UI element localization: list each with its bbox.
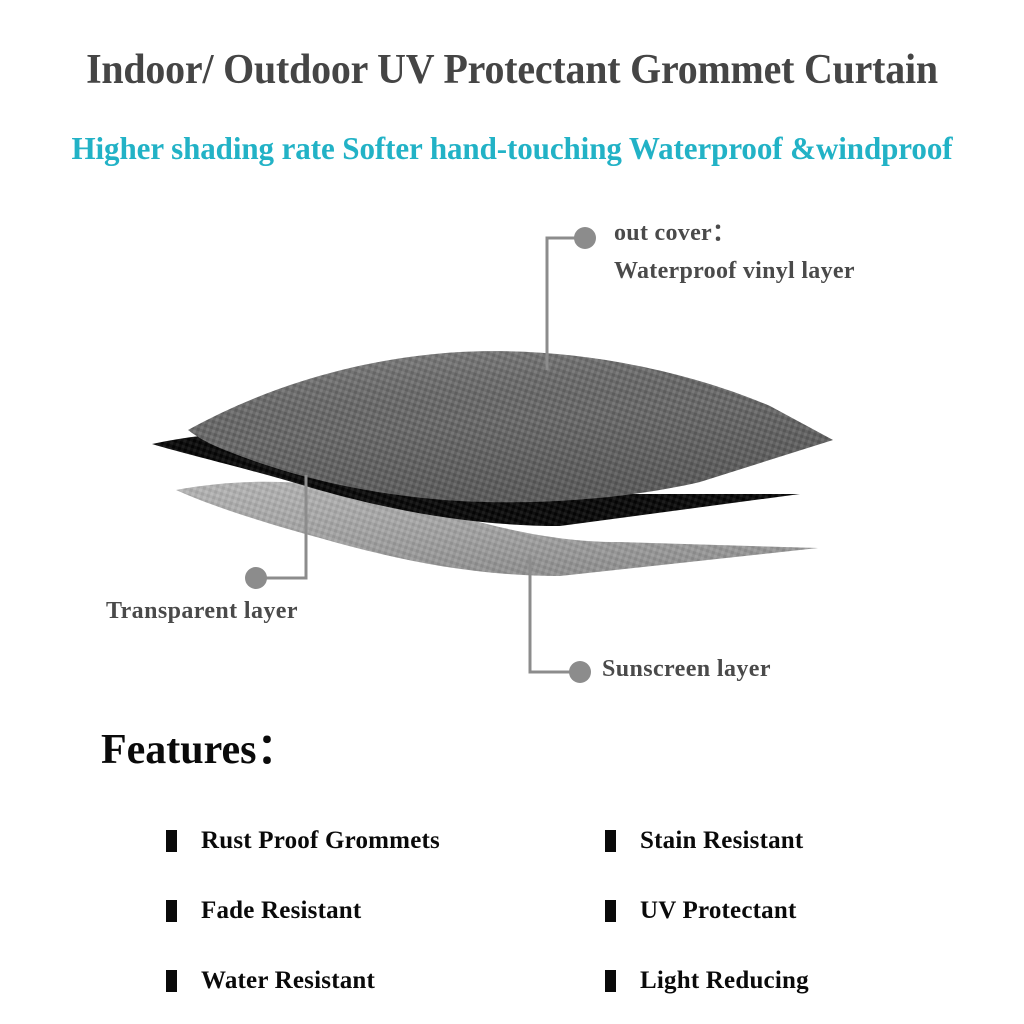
callout-sunscreen-layer: Sunscreen layer <box>602 656 771 683</box>
feature-item: Water Resistant <box>166 946 440 1016</box>
bullet-square-icon <box>605 900 616 922</box>
feature-item: UV Protectant <box>605 876 809 946</box>
leader-dot-top <box>574 227 596 249</box>
bullet-square-icon <box>166 970 177 992</box>
feature-label: Light Reducing <box>640 967 809 995</box>
callout-out-cover-line2: Waterproof vinyl layer <box>614 252 855 290</box>
page-title: Indoor/ Outdoor UV Protectant Grommet Cu… <box>26 44 999 96</box>
bullet-square-icon <box>605 830 616 852</box>
feature-item: Rust Proof Grommets <box>166 806 440 876</box>
feature-item: Fade Resistant <box>166 876 440 946</box>
features-column-right: Stain Resistant UV Protectant Light Redu… <box>605 806 809 1016</box>
page-subtitle: Higher shading rate Softer hand-touching… <box>15 128 1008 168</box>
callout-transparent-layer: Transparent layer <box>106 598 298 625</box>
feature-label: Rust Proof Grommets <box>201 827 440 855</box>
leader-dot-left <box>245 567 267 589</box>
feature-label: Fade Resistant <box>201 897 361 925</box>
leader-line-top <box>547 238 585 370</box>
infographic-page: Indoor/ Outdoor UV Protectant Grommet Cu… <box>0 0 1024 1024</box>
feature-label: Stain Resistant <box>640 827 803 855</box>
features-heading: Features： <box>101 724 299 776</box>
callout-out-cover: out cover： Waterproof vinyl layer <box>614 214 855 290</box>
feature-label: Water Resistant <box>201 967 375 995</box>
bullet-square-icon <box>605 970 616 992</box>
callout-out-cover-line1: out cover： <box>614 214 855 252</box>
features-column-left: Rust Proof Grommets Fade Resistant Water… <box>166 806 440 1016</box>
feature-item: Stain Resistant <box>605 806 809 876</box>
feature-label: UV Protectant <box>640 897 797 925</box>
leader-dot-bottom <box>569 661 591 683</box>
feature-item: Light Reducing <box>605 946 809 1016</box>
bullet-square-icon <box>166 830 177 852</box>
bullet-square-icon <box>166 900 177 922</box>
